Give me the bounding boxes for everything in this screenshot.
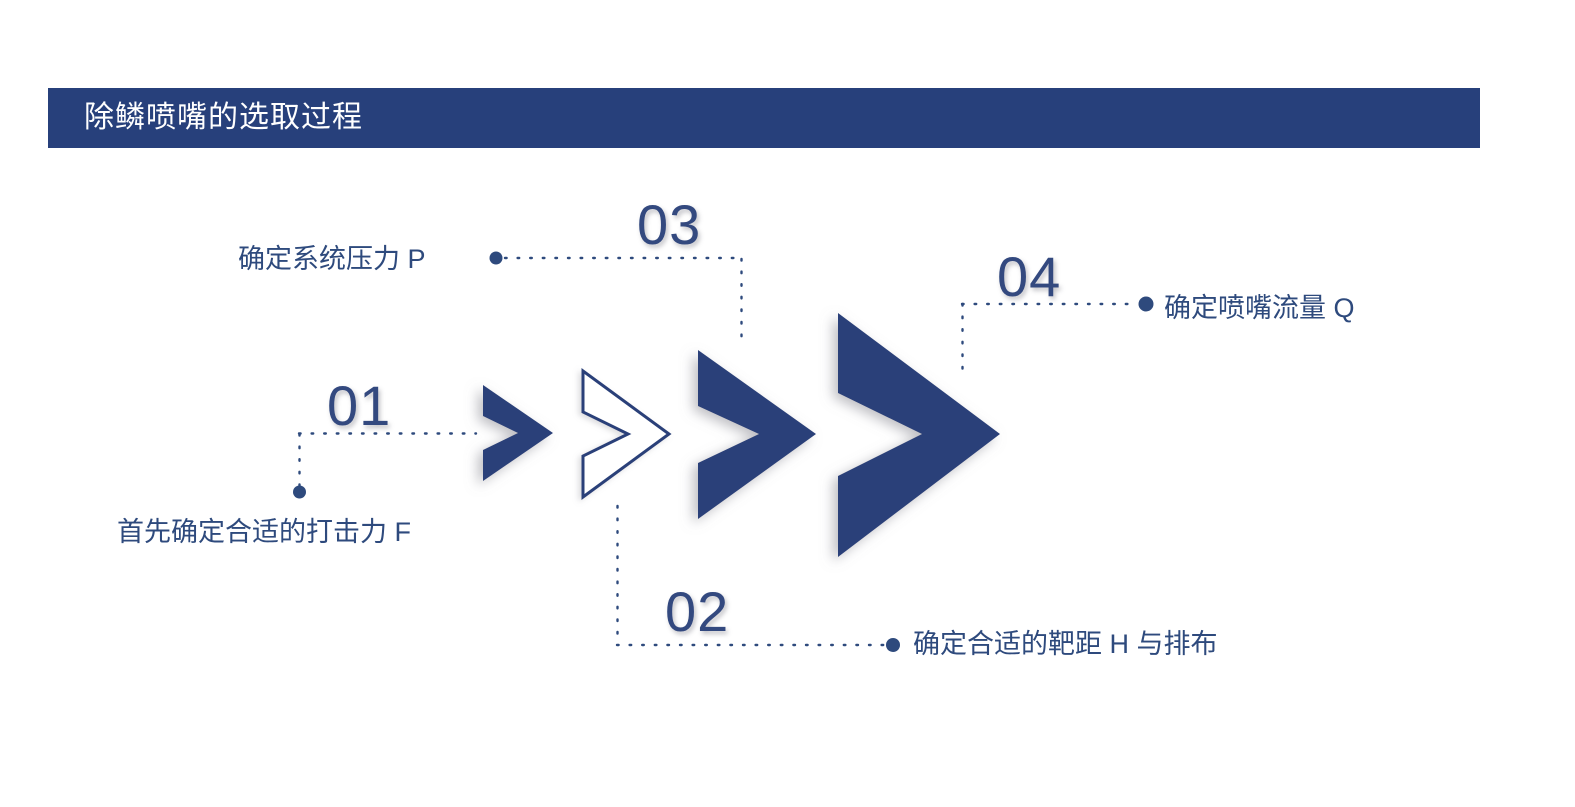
- step-number-03: 03: [637, 197, 701, 253]
- slide-canvas: 除鳞喷嘴的选取过程: [0, 0, 1575, 807]
- step-label-04: 确定喷嘴流量 Q: [1164, 295, 1355, 322]
- step-number-04: 04: [997, 249, 1061, 305]
- process-flow-diagram: [0, 0, 1575, 807]
- connector-04: [962, 297, 1154, 379]
- step-number-01: 01: [327, 378, 391, 434]
- step-number-02: 02: [665, 584, 729, 640]
- chevron-2: [583, 371, 669, 497]
- chevron-4: [838, 313, 1000, 557]
- connector-01: [293, 434, 476, 499]
- step-label-01: 首先确定合适的打击力 F: [117, 519, 411, 546]
- chevron-3: [698, 350, 816, 519]
- connector-03-dot: [490, 252, 503, 265]
- connector-03: [490, 252, 743, 341]
- step-label-02: 确定合适的靶距 H 与排布: [913, 631, 1218, 658]
- connector-04-dot: [1139, 297, 1154, 312]
- connector-01-dot: [293, 486, 306, 499]
- step-label-03: 确定系统压力 P: [238, 246, 426, 273]
- chevron-1: [483, 385, 553, 481]
- connector-02-dot: [886, 638, 900, 652]
